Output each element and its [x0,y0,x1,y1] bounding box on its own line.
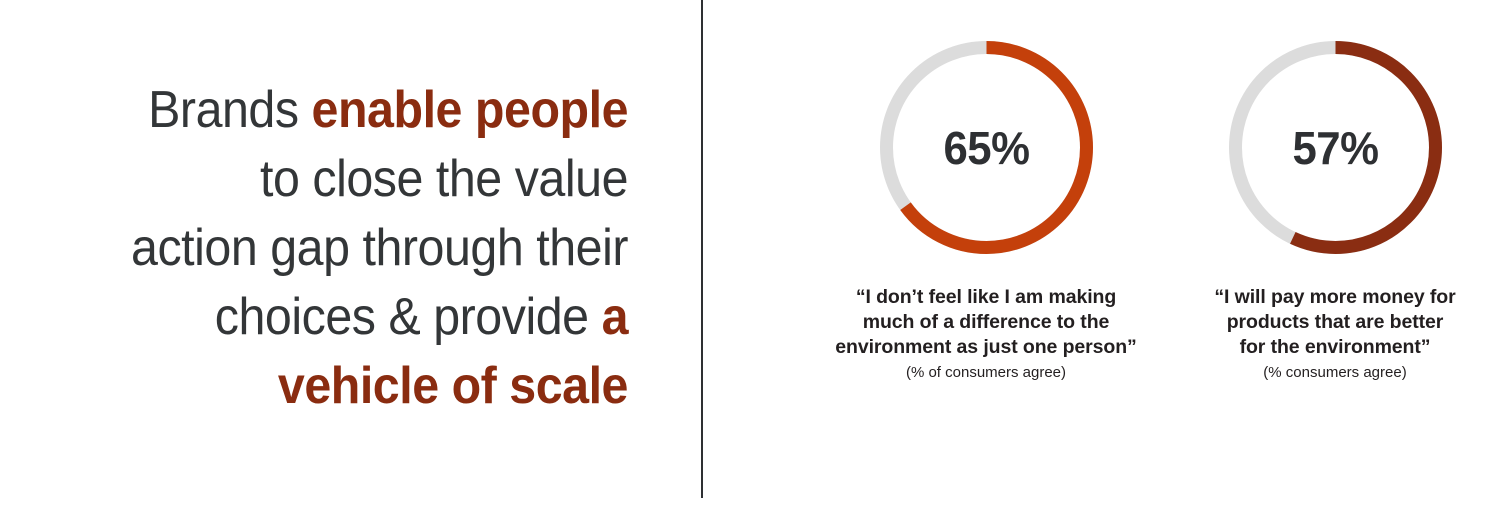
headline-text: choices & provide [215,288,602,346]
page-title: Brands enable peopleto close the valueac… [70,76,628,421]
stat-subcaption-2: (% consumers agree) [1170,363,1500,382]
stat-caption-1: “I don’t feel like I am making much of a… [786,285,1186,360]
caption-line: “I will pay more money for [1170,285,1500,310]
donut-chart-1: 65% [880,41,1093,254]
headline-accent-text: enable people [312,81,628,139]
headline-accent-text: a [602,288,628,346]
caption-line: environment as just one person” [786,335,1186,360]
caption-line: products that are better [1170,310,1500,335]
headline-line: vehicle of scale [70,352,628,421]
headline-text: action gap through their [131,219,628,277]
headline-line: to close the value [70,145,628,214]
stat-block-1: 65% “I don’t feel like I am making much … [786,30,1186,382]
caption-line: much of a difference to the [786,310,1186,335]
caption-line: for the environment” [1170,335,1500,360]
donut-value-label-2: 57% [1234,41,1436,254]
headline-text: Brands [148,81,311,139]
headline-panel: Brands enable peopleto close the valueac… [0,0,660,505]
headline-line: action gap through their [70,214,628,283]
headline-accent-text: vehicle of scale [278,357,628,415]
headline-line: choices & provide a [70,283,628,352]
stat-subcaption-1: (% of consumers agree) [786,363,1186,382]
caption-line: “I don’t feel like I am making [786,285,1186,310]
donut-chart-2: 57% [1229,41,1442,254]
donut-value-label-1: 65% [885,41,1087,254]
stat-block-2: 57% “I will pay more money for products … [1170,30,1500,382]
headline-line: Brands enable people [70,76,628,145]
stat-caption-2: “I will pay more money for products that… [1170,285,1500,360]
slide-canvas: Brands enable peopleto close the valueac… [0,0,1500,505]
stats-panel: 65% “I don’t feel like I am making much … [702,0,1500,505]
headline-text: to close the value [260,150,628,208]
